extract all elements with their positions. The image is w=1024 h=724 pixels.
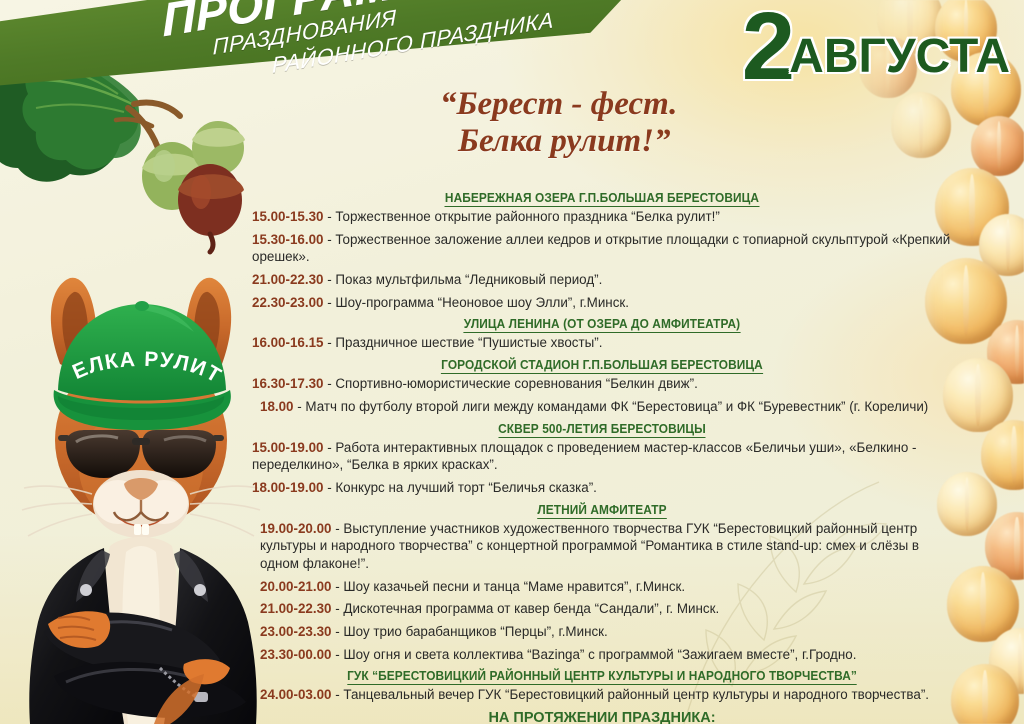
section-header: УЛИЦА ЛЕНИНА (ОТ ОЗЕРА ДО АМФИТЕАТРА) [287, 316, 917, 331]
program-entry: 16.30-17.30 - Спортивно-юмористические с… [252, 375, 952, 393]
entry-text: - Шоу огня и света коллектива “Bazinga” … [331, 647, 856, 662]
program-entry: 21.00-22.30 - Показ мультфильма “Леднико… [252, 271, 952, 289]
entry-time: 16.30-17.30 [252, 376, 323, 391]
program-entry: 15.00-15.30 - Торжественное открытие рай… [252, 208, 952, 226]
entry-text: - Конкурс на лучший торт “Беличья сказка… [323, 480, 596, 495]
entry-text: - Показ мультфильма “Ледниковый период”. [323, 272, 602, 287]
event-date-badge: 2 АВГУСТА [742, 8, 1010, 87]
entry-time: 18.00 [260, 399, 294, 414]
entry-time: 15.00-15.30 [252, 209, 323, 224]
program-schedule: НАБЕРЕЖНАЯ ОЗЕРА Г.П.БОЛЬШАЯ БЕРЕСТОВИЦА… [252, 186, 952, 724]
program-entry: 16.00-16.15 - Праздничное шествие “Пушис… [252, 334, 952, 352]
entry-time: 19.00-20.00 [260, 521, 331, 536]
program-entry: 21.00-22.30 - Дискотечная программа от к… [252, 600, 952, 618]
program-entry: 20.00-21.00 - Шоу казачьей песни и танца… [252, 578, 952, 596]
entry-time: 23.00-23.30 [260, 624, 331, 639]
entry-text: - Шоу казачьей песни и танца “Маме нрави… [331, 579, 685, 594]
section-header: ГУК “БЕРЕСТОВИЦКИЙ РАЙОННЫЙ ЦЕНТР КУЛЬТУ… [287, 668, 917, 683]
program-entry: 23.00-23.30 - Шоу трио барабанщиков “Пер… [252, 623, 952, 641]
entry-time: 21.00-22.30 [252, 272, 323, 287]
entry-time: 20.00-21.00 [260, 579, 331, 594]
entry-text: - Шоу-программа “Неоновое шоу Элли”, г.М… [323, 295, 629, 310]
entry-time: 23.30-00.00 [260, 647, 331, 662]
entry-text: - Торжественное открытие районного празд… [323, 209, 719, 224]
entry-time: 15.30-16.00 [252, 232, 323, 247]
date-day: 2 [742, 8, 793, 87]
entry-text: - Спортивно-юмористические соревнования … [323, 376, 697, 391]
entry-time: 21.00-22.30 [260, 601, 331, 616]
program-entry: 19.00-20.00 - Выступление участников худ… [252, 520, 952, 573]
section-header: ГОРОДСКОЙ СТАДИОН Г.П.БОЛЬШАЯ БЕРЕСТОВИЦ… [287, 357, 917, 372]
entry-text: - Матч по футболу второй лиги между кома… [294, 399, 929, 414]
date-month: АВГУСТА [789, 33, 1010, 81]
entry-text: - Работа интерактивных площадок с провед… [252, 440, 917, 473]
festival-title-line-2: Белка рулит!” [430, 123, 810, 160]
program-entry: 22.30-23.00 - Шоу-программа “Неоновое шо… [252, 294, 952, 312]
entry-text: - Торжественное заложение аллеи кедров и… [252, 232, 950, 265]
entry-text: - Выступление участников художественного… [260, 521, 919, 571]
program-entry: 15.00-19.00 - Работа интерактивных площа… [252, 439, 952, 474]
entry-text: - Дискотечная программа от кавер бенда “… [331, 601, 719, 616]
entry-text: - Праздничное шествие “Пушистые хвосты”. [323, 335, 602, 350]
program-entry: 18.00 - Матч по футболу второй лиги межд… [252, 398, 952, 416]
program-entry: 23.30-00.00 - Шоу огня и света коллектив… [252, 646, 952, 664]
entry-time: 16.00-16.15 [252, 335, 323, 350]
entry-time: 24.00-03.00 [260, 687, 331, 702]
entry-time: 18.00-19.00 [252, 480, 323, 495]
section-header: СКВЕР 500-ЛЕТИЯ БЕРЕСТОВИЦЫ [287, 421, 917, 436]
program-entry: 24.00-03.00 - Танцевальный вечер ГУК “Бе… [252, 686, 952, 704]
section-header: НАБЕРЕЖНАЯ ОЗЕРА Г.П.БОЛЬШАЯ БЕРЕСТОВИЦА [287, 190, 917, 205]
squirrel-mascot-illustration: БЕЛКА РУЛИТ! [14, 272, 282, 724]
section-header: ЛЕТНИЙ АМФИТЕАТР [287, 502, 917, 517]
entry-time: 15.00-19.00 [252, 440, 323, 455]
closing-header: НА ПРОТЯЖЕНИИ ПРАЗДНИКА: [252, 710, 952, 724]
entry-text: - Шоу трио барабанщиков “Перцы”, г.Минск… [331, 624, 607, 639]
entry-text: - Танцевальный вечер ГУК “Берестовицкий … [331, 687, 929, 702]
program-entry: 15.30-16.00 - Торжественное заложение ал… [252, 231, 952, 266]
entry-time: 22.30-23.00 [252, 295, 323, 310]
program-entry: 18.00-19.00 - Конкурс на лучший торт “Бе… [252, 479, 952, 497]
festival-program-poster: ПРОГРАММА ПРАЗДНОВАНИЯ РАЙОННОГО ПРАЗДНИ… [0, 0, 1024, 724]
